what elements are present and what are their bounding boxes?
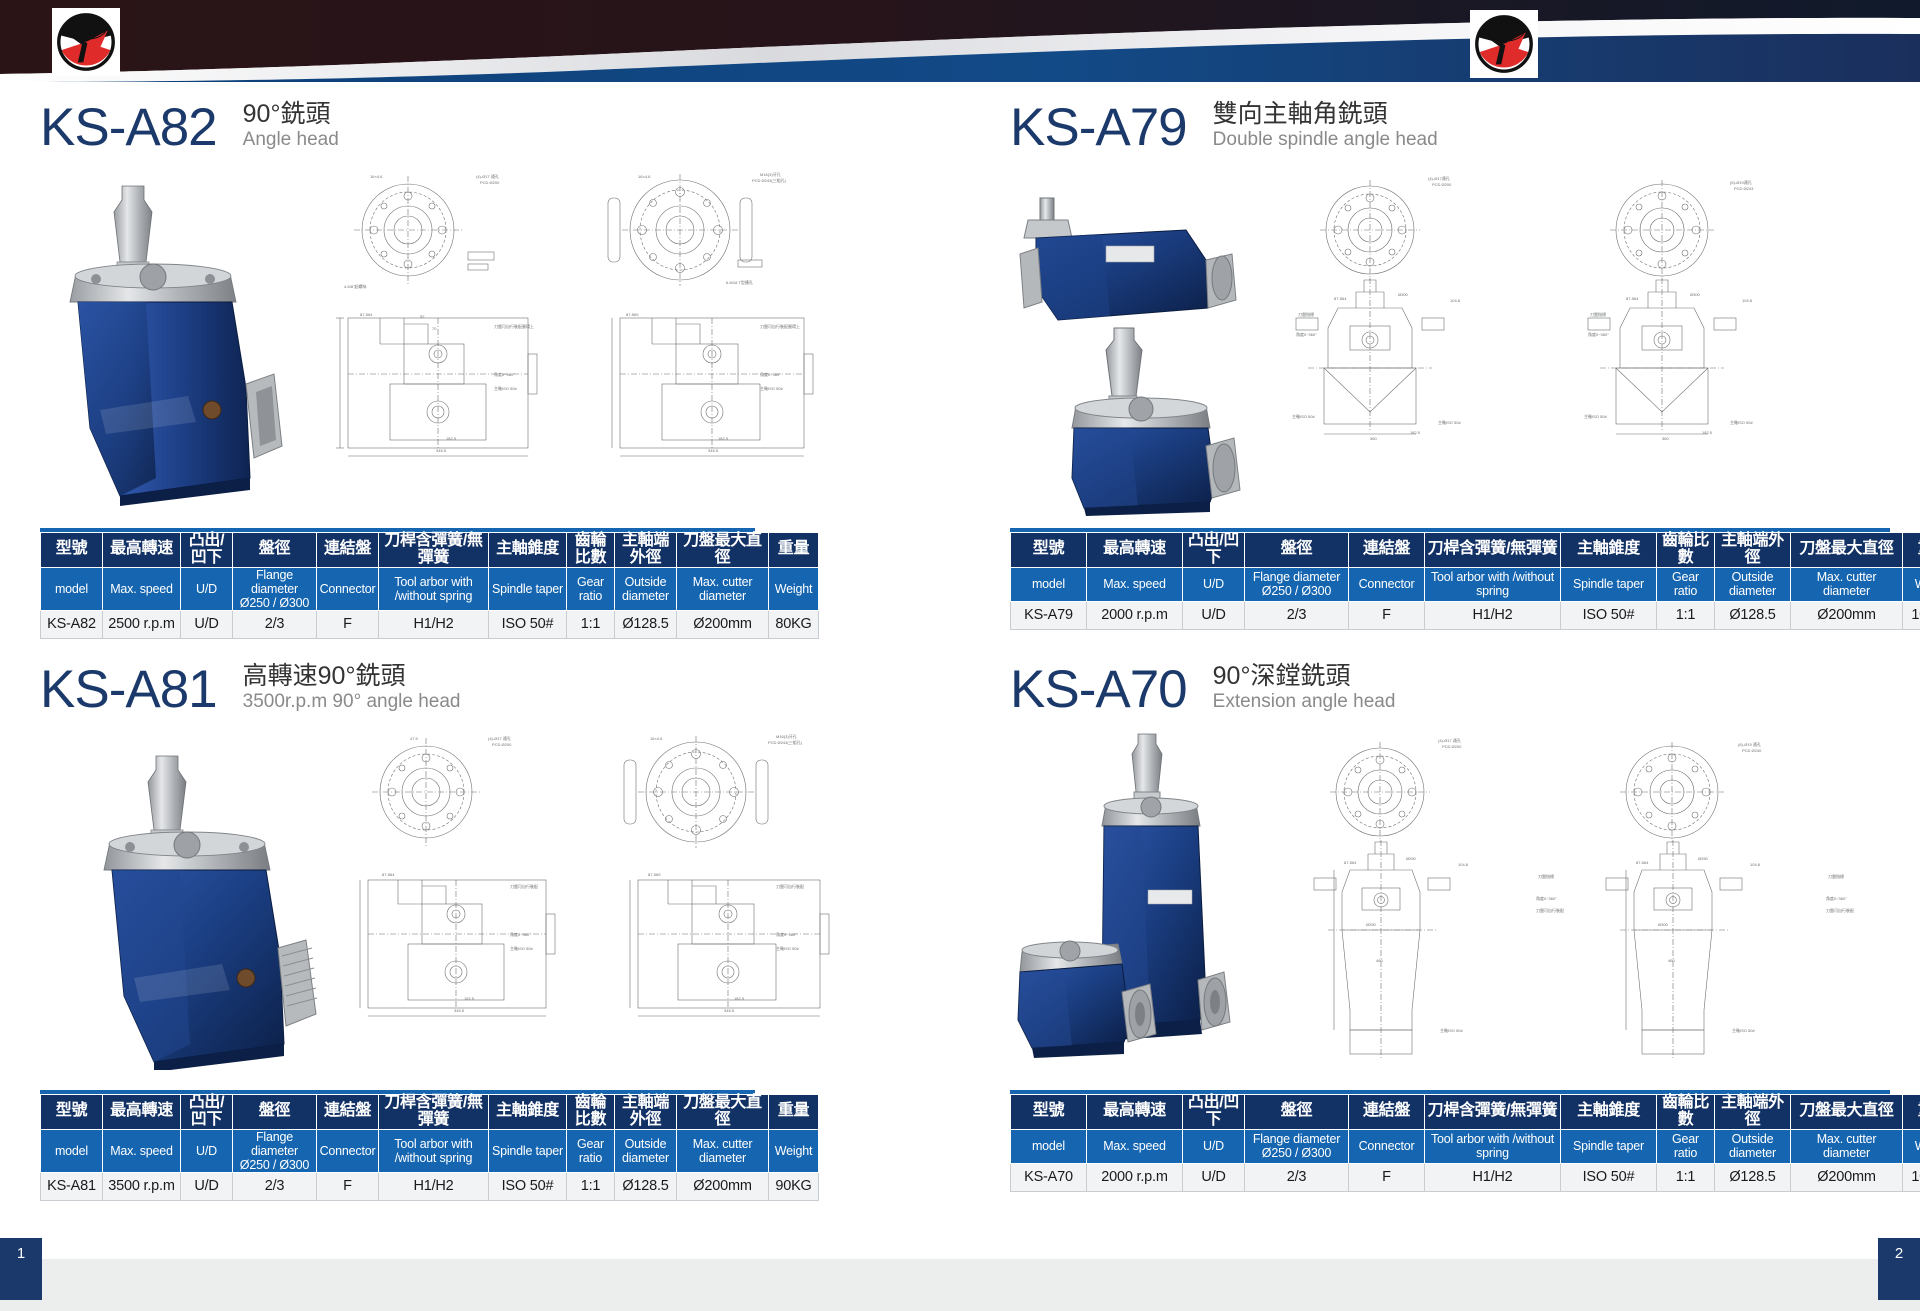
th-outside-diameter: 主軸端外徑 bbox=[1715, 533, 1791, 568]
cell-gear-ratio: 1:1 bbox=[567, 1172, 615, 1200]
product-title-ks-a79: KS-A79 雙向主軸角銑頭 Double spindle angle head bbox=[1010, 92, 1900, 154]
th-spindle-taper: 主軸錐度 bbox=[1561, 533, 1657, 568]
svg-text:刀盤可自行裝配: 刀盤可自行裝配 bbox=[1536, 907, 1564, 913]
svg-text:4-5/8"起螺絲: 4-5/8"起螺絲 bbox=[344, 283, 367, 289]
svg-text:104.8: 104.8 bbox=[1750, 862, 1761, 867]
svg-text:PCD Ø200: PCD Ø200 bbox=[480, 180, 500, 185]
th-en-model: model bbox=[1011, 567, 1087, 601]
product-title-cn: 雙向主軸角銑頭 bbox=[1213, 100, 1438, 130]
th-en-model: model bbox=[41, 567, 103, 610]
th-en-connector: Connector bbox=[317, 1129, 379, 1172]
table-row: KS-A79 2000 r.p.m U/D 2/3 F H1/H2 ISO 50… bbox=[1011, 601, 1920, 629]
product-title-cn: 90°銑頭 bbox=[243, 100, 339, 130]
svg-text:87-564: 87-564 bbox=[1344, 860, 1357, 865]
spec-table-ks-a82: 型號 最高轉速 凸出/凹下 盤徑 連結盤 刀桿含彈簧/無彈簧 主軸錐度 齒輪比數… bbox=[40, 532, 819, 639]
th-en-max-cutter-diameter: Max. cutter diameter bbox=[677, 1129, 769, 1172]
company-logo bbox=[52, 8, 120, 76]
cell-gear-ratio: 1:1 bbox=[1657, 601, 1715, 629]
product-title-ks-a70: KS-A70 90°深鏜銑頭 Extension angle head bbox=[1010, 654, 1900, 716]
table-row: KS-A70 2000 r.p.m U/D 2/3 F H1/H2 ISO 50… bbox=[1011, 1163, 1920, 1191]
th-en-ud: U/D bbox=[181, 567, 233, 610]
th-en-model: model bbox=[41, 1129, 103, 1172]
th-max-cutter-diameter: 刀盤最大直徑 bbox=[1791, 1095, 1903, 1130]
svg-text:刀盤指標: 刀盤指標 bbox=[1538, 873, 1554, 879]
th-en-gear-ratio: Gear ratio bbox=[567, 1129, 615, 1172]
svg-text:主軸ISO 50#: 主軸ISO 50# bbox=[510, 945, 533, 951]
svg-text:87-564: 87-564 bbox=[1636, 860, 1649, 865]
th-en-connector: Connector bbox=[317, 567, 379, 610]
svg-text:刀盤指標: 刀盤指標 bbox=[1828, 873, 1844, 879]
th-flange-diameter: 盤徑 bbox=[1245, 533, 1349, 568]
svg-text:360: 360 bbox=[1662, 436, 1669, 441]
cell-max-cutter-diameter: Ø200mm bbox=[677, 610, 769, 638]
cell-ud: U/D bbox=[1183, 1163, 1245, 1191]
th-en-connector: Connector bbox=[1349, 567, 1425, 601]
th-flange-diameter: 盤徑 bbox=[1245, 1095, 1349, 1130]
product-photo-ks-a70 bbox=[1010, 730, 1260, 1080]
svg-text:104.8: 104.8 bbox=[1450, 298, 1461, 303]
svg-text:主軸ISO 50#: 主軸ISO 50# bbox=[776, 945, 799, 951]
th-en-spindle-taper: Spindle taper bbox=[489, 1129, 567, 1172]
svg-text:刀盤指標: 刀盤指標 bbox=[1590, 311, 1606, 317]
product-title-cn: 90°深鏜銑頭 bbox=[1213, 662, 1396, 692]
product-code: KS-A82 bbox=[40, 101, 217, 154]
svg-text:(6)-Ø19 通孔: (6)-Ø19 通孔 bbox=[1738, 741, 1761, 747]
th-max-speed: 最高轉速 bbox=[103, 1095, 181, 1130]
svg-text:主軸ISO 50#: 主軸ISO 50# bbox=[1292, 413, 1315, 419]
product-title-en: Extension angle head bbox=[1213, 691, 1396, 714]
svg-text:刀盤可自行裝配: 刀盤可自行裝配 bbox=[510, 883, 538, 889]
svg-text:角度0~360°: 角度0~360° bbox=[1536, 895, 1557, 901]
cell-tool-arbor: H1/H2 bbox=[379, 1172, 489, 1200]
svg-text:(4)-Ø17 通孔: (4)-Ø17 通孔 bbox=[1438, 737, 1461, 743]
cell-connector: F bbox=[1349, 601, 1425, 629]
th-en-outside-diameter: Outside diameter bbox=[1715, 1129, 1791, 1163]
svg-text:Ø250: Ø250 bbox=[1406, 856, 1417, 861]
th-weight: 重量 bbox=[769, 533, 819, 568]
page-footer: 1 2 bbox=[0, 1222, 1920, 1311]
th-en-spindle-taper: Spindle taper bbox=[1561, 567, 1657, 601]
figure-area-ks-a70: (4)-Ø17 通孔PCD Ø200 (6)-Ø19 通孔PCD Ø240 87… bbox=[1010, 730, 1900, 1090]
th-en-outside-diameter: Outside diameter bbox=[615, 567, 677, 610]
cell-outside-diameter: Ø128.5 bbox=[615, 1172, 677, 1200]
technical-drawing-ks-a81: 47.5(4)-Ø17 通孔PCD Ø200 16×4.6M16(3)牙孔PCD… bbox=[328, 730, 948, 1080]
svg-text:PCD Ø240: PCD Ø240 bbox=[1742, 748, 1762, 753]
technical-drawing-ks-a79: (4)-Ø17通孔PCD Ø200 (6)-Ø19通孔PCD Ø243 87-5… bbox=[1278, 168, 1898, 518]
table-header-en-row: model Max. speed U/D Flange diameter Ø25… bbox=[41, 567, 819, 610]
th-tool-arbor: 刀桿含彈簧/無彈簧 bbox=[1425, 533, 1561, 568]
header-banner-graphic bbox=[0, 0, 1920, 82]
th-en-max-cutter-diameter: Max. cutter diameter bbox=[677, 567, 769, 610]
cell-spindle-taper: ISO 50# bbox=[489, 610, 567, 638]
table-header-cn-row: 型號 最高轉速 凸出/凹下 盤徑 連結盤 刀桿含彈簧/無彈簧 主軸錐度 齒輪比數… bbox=[1011, 1095, 1920, 1130]
svg-text:87-564: 87-564 bbox=[1626, 296, 1639, 301]
th-en-ud: U/D bbox=[181, 1129, 233, 1172]
th-max-speed: 最高轉速 bbox=[103, 533, 181, 568]
svg-text:角度0~360°: 角度0~360° bbox=[1826, 895, 1847, 901]
product-panel-ks-a70: KS-A70 90°深鏜銑頭 Extension angle head bbox=[1010, 654, 1900, 1192]
th-en-weight: Weight bbox=[1903, 1129, 1920, 1163]
th-tool-arbor: 刀桿含彈簧/無彈簧 bbox=[1425, 1095, 1561, 1130]
cell-model: KS-A82 bbox=[41, 610, 103, 638]
svg-text:16×4.6: 16×4.6 bbox=[370, 174, 383, 179]
cell-gear-ratio: 1:1 bbox=[1657, 1163, 1715, 1191]
th-en-max-speed: Max. speed bbox=[1087, 567, 1183, 601]
svg-text:刀盤指標: 刀盤指標 bbox=[1298, 311, 1314, 317]
svg-text:主軸ISO 50#: 主軸ISO 50# bbox=[1732, 1027, 1755, 1033]
cell-tool-arbor: H1/H2 bbox=[1425, 1163, 1561, 1191]
cell-outside-diameter: Ø128.5 bbox=[615, 610, 677, 638]
th-en-weight: Weight bbox=[769, 567, 819, 610]
svg-text:87-564: 87-564 bbox=[1334, 296, 1347, 301]
svg-text:M16(3)牙孔: M16(3)牙孔 bbox=[760, 171, 781, 177]
figure-area-ks-a82: 16×4.6(4)-Ø17 通孔PCD Ø200 16×4.6M16(3)牙孔P… bbox=[40, 168, 970, 528]
th-connector: 連結盤 bbox=[317, 1095, 379, 1130]
th-spindle-taper: 主軸錐度 bbox=[1561, 1095, 1657, 1130]
svg-text:(4)-Ø17 通孔: (4)-Ø17 通孔 bbox=[476, 173, 499, 179]
svg-text:PCD Ø243(三組孔): PCD Ø243(三組孔) bbox=[768, 739, 803, 745]
page-header bbox=[0, 0, 1920, 82]
svg-text:360: 360 bbox=[1370, 436, 1377, 441]
product-panel-ks-a79: KS-A79 雙向主軸角銑頭 Double spindle angle head bbox=[1010, 92, 1900, 630]
th-model: 型號 bbox=[41, 1095, 103, 1130]
svg-text:刀盤可自行裝配圓環上: 刀盤可自行裝配圓環上 bbox=[760, 323, 800, 329]
th-en-flange-diameter: Flange diameter Ø250 / Ø300 bbox=[1245, 567, 1349, 601]
product-title-en: Double spindle angle head bbox=[1213, 129, 1438, 152]
svg-text:104.8: 104.8 bbox=[1742, 298, 1753, 303]
svg-text:(4)-Ø17 通孔: (4)-Ø17 通孔 bbox=[488, 735, 511, 741]
svg-text:主軸ISO 50#: 主軸ISO 50# bbox=[1438, 419, 1461, 425]
th-en-tool-arbor: Tool arbor with /without spring bbox=[379, 567, 489, 610]
cell-gear-ratio: 1:1 bbox=[567, 610, 615, 638]
footer-band bbox=[0, 1259, 1920, 1311]
th-en-spindle-taper: Spindle taper bbox=[489, 567, 567, 610]
cell-weight: 105KG bbox=[1903, 1163, 1920, 1191]
svg-text:M16(3)牙孔: M16(3)牙孔 bbox=[776, 733, 797, 739]
th-spindle-taper: 主軸錐度 bbox=[489, 533, 567, 568]
svg-text:Ø300: Ø300 bbox=[1398, 292, 1409, 297]
th-model: 型號 bbox=[1011, 1095, 1087, 1130]
th-en-gear-ratio: Gear ratio bbox=[567, 567, 615, 610]
th-en-max-cutter-diameter: Max. cutter diameter bbox=[1791, 567, 1903, 601]
cell-outside-diameter: Ø128.5 bbox=[1715, 601, 1791, 629]
svg-text:460: 460 bbox=[1668, 958, 1675, 963]
svg-text:16×4.6: 16×4.6 bbox=[650, 736, 663, 741]
cell-ud: U/D bbox=[181, 610, 233, 638]
th-ud: 凸出/凹下 bbox=[1183, 533, 1245, 568]
th-en-flange-diameter: Flange diameter Ø250 / Ø300 bbox=[1245, 1129, 1349, 1163]
table-header-cn-row: 型號 最高轉速 凸出/凹下 盤徑 連結盤 刀桿含彈簧/無彈簧 主軸錐度 齒輪比數… bbox=[1011, 533, 1920, 568]
th-en-tool-arbor: Tool arbor with /without spring bbox=[379, 1129, 489, 1172]
th-ud: 凸出/凹下 bbox=[181, 533, 233, 568]
th-max-cutter-diameter: 刀盤最大直徑 bbox=[677, 533, 769, 568]
th-model: 型號 bbox=[41, 533, 103, 568]
company-logo-icon bbox=[1470, 10, 1538, 78]
svg-text:刀盤可自行裝配: 刀盤可自行裝配 bbox=[776, 883, 804, 889]
table-header-cn-row: 型號 最高轉速 凸出/凹下 盤徑 連結盤 刀桿含彈簧/無彈簧 主軸錐度 齒輪比數… bbox=[41, 1095, 819, 1130]
svg-text:PCD Ø200: PCD Ø200 bbox=[1432, 182, 1452, 187]
svg-text:PCD Ø200: PCD Ø200 bbox=[1442, 744, 1462, 749]
svg-text:16×4.6: 16×4.6 bbox=[638, 174, 651, 179]
th-weight: 重量 bbox=[769, 1095, 819, 1130]
product-code: KS-A79 bbox=[1010, 101, 1187, 154]
svg-text:345.5: 345.5 bbox=[454, 1008, 465, 1013]
cell-model: KS-A70 bbox=[1011, 1163, 1087, 1191]
svg-text:70: 70 bbox=[432, 326, 437, 331]
svg-text:刀盤可自行裝配: 刀盤可自行裝配 bbox=[1826, 907, 1854, 913]
th-flange-diameter: 盤徑 bbox=[233, 1095, 317, 1130]
svg-text:主軸ISO 50#: 主軸ISO 50# bbox=[1584, 413, 1607, 419]
svg-text:(6)-Ø19通孔: (6)-Ø19通孔 bbox=[1730, 179, 1752, 185]
th-gear-ratio: 齒輪比數 bbox=[1657, 1095, 1715, 1130]
cell-max-speed: 2000 r.p.m bbox=[1087, 601, 1183, 629]
th-weight: 重量 bbox=[1903, 533, 1920, 568]
svg-text:104.8: 104.8 bbox=[1458, 862, 1469, 867]
th-connector: 連結盤 bbox=[1349, 533, 1425, 568]
svg-text:460: 460 bbox=[1376, 958, 1383, 963]
th-en-flange-diameter: Flange diameter Ø250 / Ø300 bbox=[233, 567, 317, 610]
product-code: KS-A70 bbox=[1010, 663, 1187, 716]
th-en-max-speed: Max. speed bbox=[103, 567, 181, 610]
table-header-en-row: model Max. speed U/D Flange diameter Ø25… bbox=[41, 1129, 819, 1172]
cell-weight: 80KG bbox=[769, 610, 819, 638]
th-outside-diameter: 主軸端外徑 bbox=[615, 533, 677, 568]
cell-connector: F bbox=[1349, 1163, 1425, 1191]
page-number-left: 1 bbox=[0, 1238, 42, 1300]
th-tool-arbor: 刀桿含彈簧/無彈簧 bbox=[379, 533, 489, 568]
svg-text:(4)-Ø17通孔: (4)-Ø17通孔 bbox=[1428, 175, 1450, 181]
cell-outside-diameter: Ø128.5 bbox=[1715, 1163, 1791, 1191]
th-max-speed: 最高轉速 bbox=[1087, 533, 1183, 568]
th-en-flange-diameter: Flange diameter Ø250 / Ø300 bbox=[233, 1129, 317, 1172]
company-logo-secondary bbox=[1470, 10, 1538, 78]
th-flange-diameter: 盤徑 bbox=[233, 533, 317, 568]
svg-text:角度0~360°: 角度0~360° bbox=[1588, 331, 1609, 337]
svg-text:6-M18 T型槽孔: 6-M18 T型槽孔 bbox=[726, 279, 753, 285]
svg-text:345.5: 345.5 bbox=[708, 448, 719, 453]
spec-table-ks-a81: 型號 最高轉速 凸出/凹下 盤徑 連結盤 刀桿含彈簧/無彈簧 主軸錐度 齒輪比數… bbox=[40, 1094, 819, 1201]
svg-text:87-564: 87-564 bbox=[360, 312, 373, 317]
th-en-ud: U/D bbox=[1183, 1129, 1245, 1163]
svg-text:PCD Ø200: PCD Ø200 bbox=[492, 742, 512, 747]
cell-weight: 90KG bbox=[769, 1172, 819, 1200]
cell-connector: F bbox=[317, 1172, 379, 1200]
th-en-gear-ratio: Gear ratio bbox=[1657, 567, 1715, 601]
th-en-ud: U/D bbox=[1183, 567, 1245, 601]
table-header-en-row: model Max. speed U/D Flange diameter Ø25… bbox=[1011, 1129, 1920, 1163]
table-row: KS-A82 2500 r.p.m U/D 2/3 F H1/H2 ISO 50… bbox=[41, 610, 819, 638]
th-ud: 凸出/凹下 bbox=[1183, 1095, 1245, 1130]
svg-text:PCD Ø243: PCD Ø243 bbox=[1734, 186, 1754, 191]
svg-text:主軸ISO 50#: 主軸ISO 50# bbox=[760, 385, 783, 391]
product-title-ks-a81: KS-A81 高轉速90°銑頭 3500r.p.m 90° angle head bbox=[40, 654, 970, 716]
svg-text:345.5: 345.5 bbox=[724, 1008, 735, 1013]
th-en-max-cutter-diameter: Max. cutter diameter bbox=[1791, 1129, 1903, 1163]
product-panel-ks-a82: KS-A82 90°銑頭 Angle head bbox=[40, 92, 970, 639]
svg-text:主軸ISO 50#: 主軸ISO 50# bbox=[1730, 419, 1753, 425]
cell-weight: 100KG bbox=[1903, 601, 1920, 629]
th-max-cutter-diameter: 刀盤最大直徑 bbox=[677, 1095, 769, 1130]
svg-text:87-569: 87-569 bbox=[626, 312, 639, 317]
cell-max-speed: 3500 r.p.m bbox=[103, 1172, 181, 1200]
th-en-connector: Connector bbox=[1349, 1129, 1425, 1163]
cell-max-cutter-diameter: Ø200mm bbox=[1791, 1163, 1903, 1191]
cell-model: KS-A79 bbox=[1011, 601, 1087, 629]
cell-flange-diameter: 2/3 bbox=[1245, 601, 1349, 629]
svg-text:主軸ISO 50#: 主軸ISO 50# bbox=[494, 385, 517, 391]
cell-max-speed: 2000 r.p.m bbox=[1087, 1163, 1183, 1191]
cell-max-cutter-diameter: Ø200mm bbox=[1791, 601, 1903, 629]
product-title-en: Angle head bbox=[243, 129, 339, 152]
th-en-model: model bbox=[1011, 1129, 1087, 1163]
th-outside-diameter: 主軸端外徑 bbox=[1715, 1095, 1791, 1130]
th-en-weight: Weight bbox=[1903, 567, 1920, 601]
cell-connector: F bbox=[317, 610, 379, 638]
svg-text:87-569: 87-569 bbox=[648, 872, 661, 877]
table-header-en-row: model Max. speed U/D Flange diameter Ø25… bbox=[1011, 567, 1920, 601]
th-en-spindle-taper: Spindle taper bbox=[1561, 1129, 1657, 1163]
cell-max-speed: 2500 r.p.m bbox=[103, 610, 181, 638]
cell-model: KS-A81 bbox=[41, 1172, 103, 1200]
product-photo-ks-a82 bbox=[60, 178, 290, 508]
th-en-outside-diameter: Outside diameter bbox=[1715, 567, 1791, 601]
table-row: KS-A81 3500 r.p.m U/D 2/3 F H1/H2 ISO 50… bbox=[41, 1172, 819, 1200]
th-weight: 重量 bbox=[1903, 1095, 1920, 1130]
cell-spindle-taper: ISO 50# bbox=[1561, 601, 1657, 629]
product-title-cn: 高轉速90°銑頭 bbox=[243, 662, 461, 692]
th-en-max-speed: Max. speed bbox=[103, 1129, 181, 1172]
cell-max-cutter-diameter: Ø200mm bbox=[677, 1172, 769, 1200]
svg-text:Ø250: Ø250 bbox=[1366, 922, 1377, 927]
page-number-right: 2 bbox=[1878, 1238, 1920, 1300]
cell-spindle-taper: ISO 50# bbox=[1561, 1163, 1657, 1191]
svg-text:Ø300: Ø300 bbox=[1658, 922, 1669, 927]
company-logo-icon bbox=[52, 8, 120, 76]
technical-drawing-ks-a82: 16×4.6(4)-Ø17 通孔PCD Ø200 16×4.6M16(3)牙孔P… bbox=[308, 168, 948, 518]
th-connector: 連結盤 bbox=[317, 533, 379, 568]
product-panel-ks-a81: KS-A81 高轉速90°銑頭 3500r.p.m 90° angle head bbox=[40, 654, 970, 1201]
cell-flange-diameter: 2/3 bbox=[233, 610, 317, 638]
figure-area-ks-a79: (4)-Ø17通孔PCD Ø200 (6)-Ø19通孔PCD Ø243 87-5… bbox=[1010, 168, 1900, 528]
th-gear-ratio: 齒輪比數 bbox=[567, 1095, 615, 1130]
th-gear-ratio: 齒輪比數 bbox=[1657, 533, 1715, 568]
th-tool-arbor: 刀桿含彈簧/無彈簧 bbox=[379, 1095, 489, 1130]
th-connector: 連結盤 bbox=[1349, 1095, 1425, 1130]
cell-tool-arbor: H1/H2 bbox=[1425, 601, 1561, 629]
svg-text:87-564: 87-564 bbox=[382, 872, 395, 877]
svg-text:主軸ISO 50#: 主軸ISO 50# bbox=[1440, 1027, 1463, 1033]
spec-table-ks-a70: 型號 最高轉速 凸出/凹下 盤徑 連結盤 刀桿含彈簧/無彈簧 主軸錐度 齒輪比數… bbox=[1010, 1094, 1920, 1192]
th-max-speed: 最高轉速 bbox=[1087, 1095, 1183, 1130]
cell-ud: U/D bbox=[1183, 601, 1245, 629]
svg-text:345.5: 345.5 bbox=[436, 448, 447, 453]
cell-ud: U/D bbox=[181, 1172, 233, 1200]
table-header-cn-row: 型號 最高轉速 凸出/凹下 盤徑 連結盤 刀桿含彈簧/無彈簧 主軸錐度 齒輪比數… bbox=[41, 533, 819, 568]
th-max-cutter-diameter: 刀盤最大直徑 bbox=[1791, 533, 1903, 568]
th-en-max-speed: Max. speed bbox=[1087, 1129, 1183, 1163]
cell-flange-diameter: 2/3 bbox=[1245, 1163, 1349, 1191]
cell-spindle-taper: ISO 50# bbox=[489, 1172, 567, 1200]
product-photo-ks-a79 bbox=[1010, 168, 1260, 518]
th-en-outside-diameter: Outside diameter bbox=[615, 1129, 677, 1172]
th-en-tool-arbor: Tool arbor with /without spring bbox=[1425, 1129, 1561, 1163]
svg-text:Ø300: Ø300 bbox=[1690, 292, 1701, 297]
technical-drawing-ks-a70: (4)-Ø17 通孔PCD Ø200 (6)-Ø19 通孔PCD Ø240 87… bbox=[1288, 730, 1898, 1080]
th-en-tool-arbor: Tool arbor with /without spring bbox=[1425, 567, 1561, 601]
svg-text:角度0~360°: 角度0~360° bbox=[1296, 331, 1317, 337]
th-ud: 凸出/凹下 bbox=[181, 1095, 233, 1130]
product-photo-ks-a81 bbox=[90, 750, 320, 1070]
catalog-body: KS-A82 90°銑頭 Angle head bbox=[0, 82, 1920, 1222]
figure-area-ks-a81: 47.5(4)-Ø17 通孔PCD Ø200 16×4.6M16(3)牙孔PCD… bbox=[40, 730, 970, 1090]
th-en-gear-ratio: Gear ratio bbox=[1657, 1129, 1715, 1163]
th-spindle-taper: 主軸錐度 bbox=[489, 1095, 567, 1130]
product-code: KS-A81 bbox=[40, 663, 217, 716]
cell-tool-arbor: H1/H2 bbox=[379, 610, 489, 638]
svg-text:Ø250: Ø250 bbox=[1698, 856, 1709, 861]
cell-flange-diameter: 2/3 bbox=[233, 1172, 317, 1200]
th-en-weight: Weight bbox=[769, 1129, 819, 1172]
th-model: 型號 bbox=[1011, 533, 1087, 568]
spec-table-ks-a79: 型號 最高轉速 凸出/凹下 盤徑 連結盤 刀桿含彈簧/無彈簧 主軸錐度 齒輪比數… bbox=[1010, 532, 1920, 630]
th-outside-diameter: 主軸端外徑 bbox=[615, 1095, 677, 1130]
th-gear-ratio: 齒輪比數 bbox=[567, 533, 615, 568]
product-title-ks-a82: KS-A82 90°銑頭 Angle head bbox=[40, 92, 970, 154]
product-title-en: 3500r.p.m 90° angle head bbox=[243, 691, 461, 714]
svg-text:47.5: 47.5 bbox=[410, 736, 419, 741]
svg-text:PCD Ø243(三組孔): PCD Ø243(三組孔) bbox=[752, 177, 787, 183]
